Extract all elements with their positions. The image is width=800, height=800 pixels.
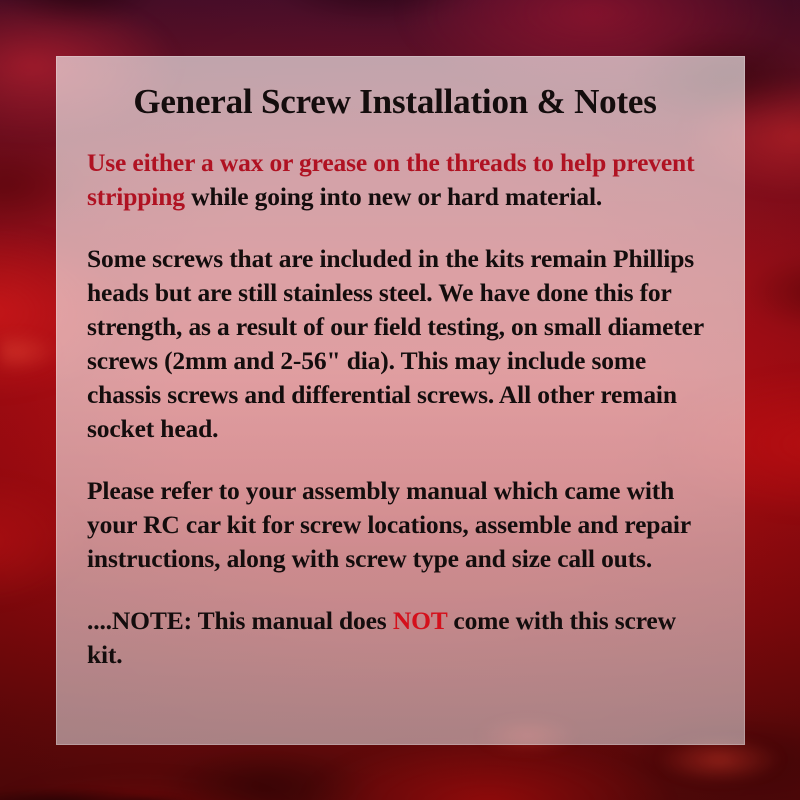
paragraph-note: ....NOTE: This manual does NOT come with… bbox=[79, 604, 711, 672]
paragraph-assembly-manual-text: Please refer to your assembly manual whi… bbox=[87, 476, 691, 573]
paragraph-phillips-heads-text: Some screws that are included in the kit… bbox=[87, 244, 704, 443]
paragraph-assembly-manual: Please refer to your assembly manual whi… bbox=[79, 474, 711, 576]
paragraph-phillips-heads: Some screws that are included in the kit… bbox=[79, 242, 711, 446]
paragraph-wax-grease-tail: while going into new or hard material. bbox=[185, 182, 602, 211]
paragraph-wax-grease: Use either a wax or grease on the thread… bbox=[79, 146, 711, 214]
note-prefix: ....NOTE: This manual does bbox=[87, 606, 393, 635]
screenshot-stage: General Screw Installation & Notes Use e… bbox=[0, 0, 800, 800]
info-panel: General Screw Installation & Notes Use e… bbox=[56, 56, 745, 745]
note-emphasis-not: NOT bbox=[393, 606, 447, 635]
page-title: General Screw Installation & Notes bbox=[79, 82, 711, 122]
